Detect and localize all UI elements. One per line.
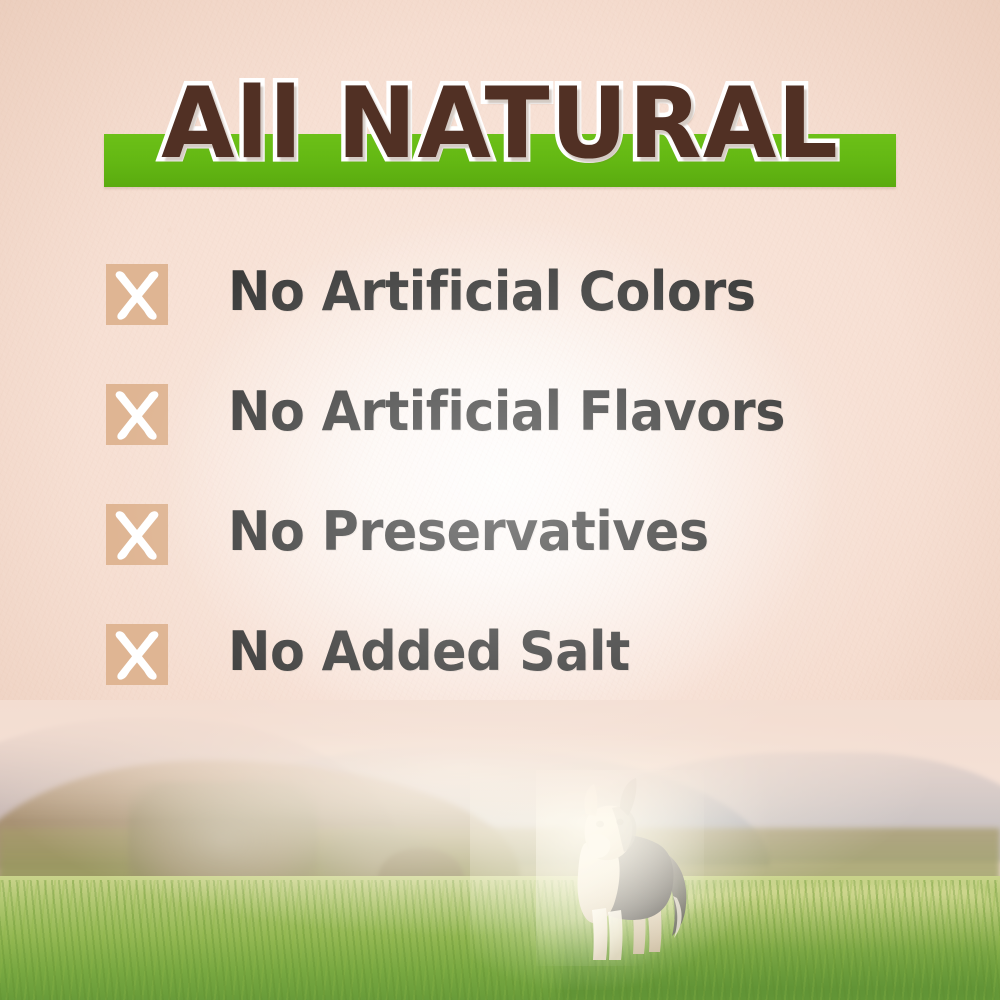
- benefit-label: No Added Salt: [228, 612, 630, 692]
- benefit-list: No Artificial Colors No Artificial Flavo…: [106, 258, 926, 738]
- headline-block: All NATURAL: [0, 72, 1000, 202]
- page-title: All NATURAL: [15, 72, 985, 176]
- x-mark-icon: [106, 384, 168, 445]
- list-item: No Preservatives: [106, 498, 926, 618]
- benefit-label: No Artificial Colors: [228, 252, 756, 332]
- list-item: No Artificial Flavors: [106, 378, 926, 498]
- border-collie-dog: [536, 770, 704, 966]
- x-mark-icon: [106, 624, 168, 685]
- list-item: No Artificial Colors: [106, 258, 926, 378]
- x-mark-icon: [106, 264, 168, 325]
- foreground-grass: [0, 880, 1000, 1000]
- landscape-photo: [0, 700, 1000, 1000]
- benefit-label: No Artificial Flavors: [228, 372, 785, 452]
- list-item: No Added Salt: [106, 618, 926, 738]
- benefit-label: No Preservatives: [228, 492, 709, 572]
- product-infographic-poster: All NATURAL No Artificial Colors No Arti…: [0, 0, 1000, 1000]
- x-mark-icon: [106, 504, 168, 565]
